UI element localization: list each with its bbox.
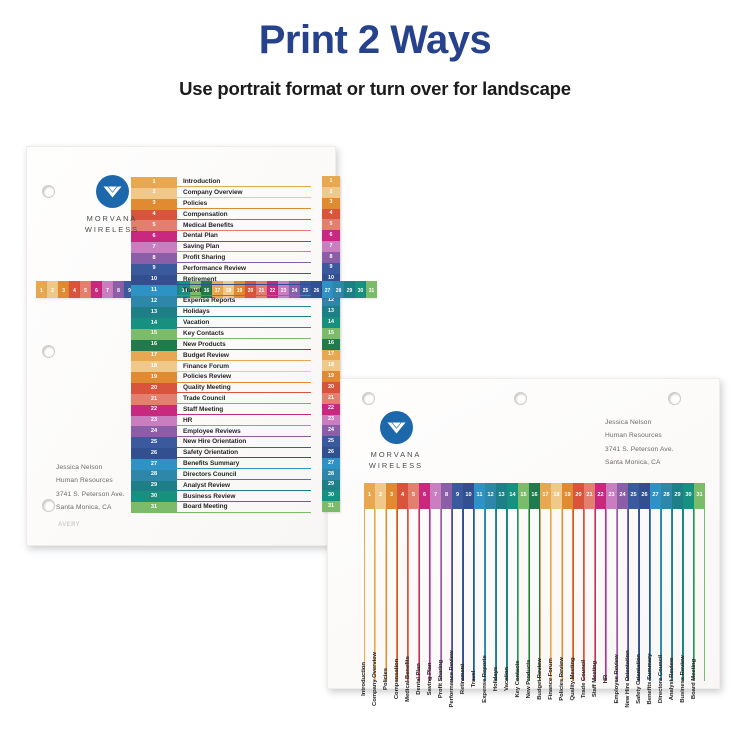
landscape-tab-label: Dental Plan [414, 663, 425, 695]
landscape-tab-rule [551, 509, 552, 681]
landscape-tab-stem: Holidays [496, 509, 507, 681]
portrait-tab-label-cell: Employee Reviews [177, 426, 311, 437]
landscape-tab-number: 3 [386, 483, 397, 509]
landscape-tab-label: Company Overview [370, 652, 381, 706]
portrait-tab-label-cell: Medical Benefits [177, 220, 311, 231]
address-line-street: 3741 S. Peterson Ave. [56, 488, 125, 501]
portrait-edge-tab[interactable]: 2 [322, 187, 340, 198]
portrait-tab-row[interactable]: 3Policies [131, 199, 311, 210]
portrait-tab-row[interactable]: 25New Hire Orientation [131, 437, 311, 448]
landscape-tab-stem: Finance Forum [551, 509, 562, 681]
portrait-edge-tab[interactable]: 22 [322, 404, 340, 415]
landscape-tab-stem: Policies Review [562, 509, 573, 681]
landscape-tab-number: 10 [463, 483, 474, 509]
portrait-tab-label-cell: Finance Forum [177, 361, 311, 372]
portrait-edge-tab[interactable]: 19 [322, 371, 340, 382]
portrait-tab-label-cell: Budget Review [177, 351, 311, 362]
landscape-tab-column[interactable]: 4Compensation [397, 483, 408, 681]
portrait-edge-tab[interactable]: 16 [322, 339, 340, 350]
portrait-tab-label-cell: Vacation [177, 318, 311, 329]
landscape-tab-column[interactable]: 25New Hire Orientation [628, 483, 639, 681]
landscape-tab-number: 7 [430, 483, 441, 509]
portrait-tab-row[interactable]: 31Board Meeting [131, 502, 311, 513]
portrait-tab-row[interactable]: 29Analyst Review [131, 481, 311, 492]
landscape-tab-stem: Dental Plan [419, 509, 430, 681]
brand-name: MORVANA WIRELESS [73, 214, 151, 235]
morvana-chevron-logo-icon [96, 175, 129, 208]
landscape-tab-label: Key Contacts [513, 660, 524, 697]
landscape-tab-column[interactable]: 20Quality Meeting [573, 483, 584, 681]
landscape-tab-label: Profit Sharing [436, 660, 447, 698]
portrait-tab-label-cell: Performance Review [177, 264, 311, 275]
landscape-tab-column[interactable]: 9Performance Review [452, 483, 463, 681]
landscape-tab-label: Introduction [359, 662, 370, 696]
landscape-tab-stem: Trade Council [584, 509, 595, 681]
portrait-tab-row[interactable]: 13Holidays [131, 307, 311, 318]
binder-hole [42, 499, 55, 512]
landscape-bottom-tab[interactable]: 31 [366, 281, 377, 298]
portrait-tab-number: 22 [131, 405, 177, 416]
portrait-edge-tab[interactable]: 21 [322, 393, 340, 404]
landscape-tab-rule [474, 509, 475, 681]
portrait-tab-row[interactable]: 26Safety Orientation [131, 448, 311, 459]
portrait-tab-row[interactable]: 16New Products [131, 340, 311, 351]
landscape-tab-column[interactable]: 23HR [606, 483, 617, 681]
landscape-bottom-tab[interactable]: 5 [80, 281, 91, 298]
brand-name: MORVANA WIRELESS [357, 450, 435, 471]
portrait-tab-label: Company Overview [183, 190, 243, 197]
portrait-tab-row[interactable]: 20Quality Meeting [131, 383, 311, 394]
brand-name-line2: WIRELESS [357, 461, 435, 472]
portrait-tab-row[interactable]: 15Key Contacts [131, 329, 311, 340]
landscape-bottom-tab[interactable]: 6 [91, 281, 102, 298]
landscape-tab-column[interactable]: 2Company Overview [375, 483, 386, 681]
landscape-tab-number: 24 [617, 483, 628, 509]
landscape-tab-label: Vacation [502, 667, 513, 691]
portrait-tab-label-cell: Dental Plan [177, 231, 311, 242]
portrait-tab-label: Analyst Review [183, 483, 230, 490]
landscape-tab-rule [694, 509, 695, 681]
landscape-tab-label: Analyst Review [667, 658, 678, 701]
binder-hole [514, 392, 527, 405]
portrait-tab-label-cell: Saving Plan [177, 242, 311, 253]
product-illustration-stage: Print 2 Ways Use portrait format or turn… [0, 0, 750, 750]
landscape-tab-stem: Company Overview [375, 509, 386, 681]
portrait-tab-label: New Products [183, 342, 226, 349]
portrait-tab-number: 12 [131, 296, 177, 307]
portrait-tab-label: Holidays [183, 309, 210, 316]
portrait-tab-label-cell: Key Contacts [177, 329, 311, 340]
portrait-tab-number: 16 [131, 340, 177, 351]
landscape-bottom-tab[interactable]: 27 [322, 281, 333, 298]
landscape-tab-column[interactable]: 26Safety Orientation [639, 483, 650, 681]
landscape-tab-number: 21 [584, 483, 595, 509]
binder-hole [42, 185, 55, 198]
landscape-bottom-tab[interactable]: 30 [355, 281, 366, 298]
landscape-tab-column[interactable]: 28Directors Council [661, 483, 672, 681]
landscape-bottom-tab[interactable]: 7 [102, 281, 113, 298]
portrait-tab-label-cell: New Hire Orientation [177, 437, 311, 448]
portrait-tab-list: 1Introduction2Company Overview3Policies4… [131, 177, 311, 513]
landscape-tab-rule [573, 509, 574, 681]
landscape-tab-label: Benefits Summary [645, 654, 656, 705]
promo-header: Print 2 Ways Use portrait format or turn… [0, 0, 750, 100]
landscape-tab-number: 5 [408, 483, 419, 509]
portrait-tab-row[interactable]: 22Staff Meeting [131, 405, 311, 416]
landscape-tab-rule [496, 509, 497, 681]
landscape-tab-stem: Business Review [683, 509, 694, 681]
portrait-edge-tab[interactable]: 14 [322, 317, 340, 328]
portrait-tab-row[interactable]: 19Policies Review [131, 372, 311, 383]
portrait-tab-label-cell: Retirement [177, 275, 311, 286]
portrait-edge-tab[interactable]: 3 [322, 198, 340, 209]
portrait-tab-row[interactable]: 7Saving Plan [131, 242, 311, 253]
address-line-name: Jessica Nelson [56, 461, 125, 474]
landscape-tab-number: 27 [650, 483, 661, 509]
portrait-tab-row[interactable]: 9Performance Review [131, 264, 311, 275]
landscape-tab-rule [540, 509, 541, 681]
portrait-tab-rule [177, 512, 311, 513]
landscape-tab-rule [397, 509, 398, 681]
portrait-tab-row[interactable]: 4Compensation [131, 210, 311, 221]
portrait-tab-label-cell: Holidays [177, 307, 311, 318]
landscape-tab-column[interactable]: 12Expense Reports [485, 483, 496, 681]
landscape-tab-rule [529, 509, 530, 681]
portrait-tab-label: Business Review [183, 494, 235, 501]
portrait-tab-label-cell: HR [177, 416, 311, 427]
landscape-tab-rule [704, 509, 705, 681]
portrait-edge-tab[interactable]: 4 [322, 209, 340, 220]
portrait-tab-label-cell: Quality Meeting [177, 383, 311, 394]
landscape-tab-column[interactable]: 14Vacation [507, 483, 518, 681]
portrait-tab-number: 29 [131, 481, 177, 492]
portrait-tab-label: Profit Sharing [183, 255, 225, 262]
portrait-tab-row[interactable]: 2Company Overview [131, 188, 311, 199]
landscape-bottom-tab[interactable]: 2 [47, 281, 58, 298]
portrait-tab-label: Trade Council [183, 396, 225, 403]
page-title: Print 2 Ways [0, 18, 750, 62]
portrait-tab-label: HR [183, 418, 192, 425]
portrait-tab-label: Medical Benefits [183, 223, 234, 230]
portrait-edge-tab[interactable]: 30 [322, 490, 340, 501]
landscape-tab-number: 19 [562, 483, 573, 509]
landscape-tab-stem: Retirement [463, 509, 474, 681]
landscape-tab-stem: Policies [386, 509, 397, 681]
portrait-tab-label-cell: Directors Council [177, 470, 311, 481]
portrait-edge-tab[interactable]: 7 [322, 241, 340, 252]
landscape-tab-column[interactable]: 16New Products [529, 483, 540, 681]
portrait-edge-tab[interactable]: 17 [322, 350, 340, 361]
address-line-dept: Human Resources [605, 429, 674, 442]
landscape-tab-column[interactable]: 11Travel [474, 483, 485, 681]
portrait-tab-row[interactable]: 8Profit Sharing [131, 253, 311, 264]
portrait-edge-tab[interactable]: 29 [322, 480, 340, 491]
landscape-tab-column[interactable]: 21Trade Council [584, 483, 595, 681]
portrait-edge-tab[interactable]: 26 [322, 447, 340, 458]
portrait-tab-number: 25 [131, 437, 177, 448]
landscape-tab-number: 18 [551, 483, 562, 509]
binder-hole [362, 392, 375, 405]
portrait-tab-row[interactable]: 24Employee Reviews [131, 426, 311, 437]
portrait-tab-row[interactable]: 11Travel [131, 285, 311, 296]
landscape-tab-number: 30 [683, 483, 694, 509]
portrait-tab-row[interactable]: 27Benefits Summary [131, 459, 311, 470]
landscape-tab-rule [518, 509, 519, 681]
portrait-tab-row[interactable]: 14Vacation [131, 318, 311, 329]
landscape-tab-rule [463, 509, 464, 681]
landscape-tab-column[interactable]: 18Finance Forum [551, 483, 562, 681]
landscape-tab-column[interactable]: 13Holidays [496, 483, 507, 681]
landscape-tab-number: 14 [507, 483, 518, 509]
landscape-tab-number: 20 [573, 483, 584, 509]
portrait-tab-label: Directors Council [183, 472, 236, 479]
portrait-edge-tab[interactable]: 18 [322, 360, 340, 371]
landscape-tab-rule [672, 509, 673, 681]
landscape-tab-stem: Medical Benefits [408, 509, 419, 681]
landscape-tab-label: Retirement [458, 664, 469, 694]
portrait-edge-tab[interactable]: 8 [322, 252, 340, 263]
landscape-tab-stem: Budget Review [540, 509, 551, 681]
landscape-tab-label: New Hire Orientation [623, 650, 634, 707]
portrait-tab-row[interactable]: 1Introduction [131, 177, 311, 188]
portrait-tab-number: 10 [131, 275, 177, 286]
landscape-bottom-tab[interactable]: 8 [113, 281, 124, 298]
portrait-tab-label-cell: Analyst Review [177, 481, 311, 492]
portrait-tab-label-cell: Introduction [177, 177, 311, 188]
landscape-tab-number: 12 [485, 483, 496, 509]
landscape-tab-number: 29 [672, 483, 683, 509]
landscape-tab-label: Medical Benefits [403, 656, 414, 702]
landscape-tab-label: Finance Forum [546, 658, 557, 700]
landscape-tab-stem: Expense Reports [485, 509, 496, 681]
portrait-tab-label-cell: Staff Meeting [177, 405, 311, 416]
landscape-bottom-tab[interactable]: 1 [36, 281, 47, 298]
portrait-tab-row[interactable]: 17Budget Review [131, 351, 311, 362]
portrait-tab-label: Board Meeting [183, 504, 228, 511]
portrait-tab-number: 27 [131, 459, 177, 470]
landscape-tab-label: Saving Plan [425, 663, 436, 696]
portrait-tab-label-cell: Business Review [177, 491, 311, 502]
portrait-edge-tab[interactable]: 24 [322, 425, 340, 436]
portrait-tab-label: Safety Orientation [183, 450, 238, 457]
portrait-edge-tab[interactable]: 9 [322, 263, 340, 274]
landscape-tab-rule [386, 509, 387, 681]
portrait-tab-row[interactable]: 21Trade Council [131, 394, 311, 405]
portrait-edge-tab[interactable]: 5 [322, 219, 340, 230]
landscape-tab-number: 25 [628, 483, 639, 509]
landscape-tab-rule [606, 509, 607, 681]
address-line-city: Santa Monica, CA [605, 456, 674, 469]
portrait-edge-tab[interactable]: 6 [322, 230, 340, 241]
landscape-tab-label: Safety Orientation [634, 654, 645, 704]
landscape-tab-rule [507, 509, 508, 681]
landscape-tab-column[interactable]: 30Business Review [683, 483, 694, 681]
landscape-tab-label: Employee Review [612, 654, 623, 703]
landscape-bottom-tab[interactable]: 28 [333, 281, 344, 298]
portrait-tab-label: Retirement [183, 277, 216, 284]
landscape-tab-label: Compensation [392, 659, 403, 699]
portrait-tab-number: 23 [131, 416, 177, 427]
portrait-tab-label: Finance Forum [183, 364, 229, 371]
landscape-tab-rule [419, 509, 420, 681]
landscape-tab-label: Budget Review [535, 658, 546, 700]
portrait-tab-row[interactable]: 23HR [131, 416, 311, 427]
portrait-edge-tab[interactable]: 31 [322, 501, 340, 512]
landscape-tab-column[interactable]: 31Board Meeting [694, 483, 705, 681]
landscape-tab-rule [430, 509, 431, 681]
landscape-tab-number: 13 [496, 483, 507, 509]
brand-name-line1: MORVANA [371, 450, 422, 459]
landscape-tab-label: Holidays [491, 667, 502, 691]
landscape-bottom-tab[interactable]: 3 [58, 281, 69, 298]
portrait-tab-row[interactable]: 30Business Review [131, 491, 311, 502]
portrait-tab-label: Key Contacts [183, 331, 224, 338]
portrait-tab-label-cell: Benefits Summary [177, 459, 311, 470]
landscape-bottom-tab[interactable]: 29 [344, 281, 355, 298]
address-line-street: 3741 S. Peterson Ave. [605, 443, 674, 456]
landscape-tab-label: Directors Council [656, 655, 667, 703]
landscape-tab-label: Expense Reports [480, 655, 491, 702]
landscape-tab-column[interactable]: 22Staff Meeting [595, 483, 606, 681]
brand-name-line2: WIRELESS [73, 225, 151, 236]
landscape-tab-label: Business Review [678, 655, 689, 702]
binder-hole [668, 392, 681, 405]
address-block: Jessica Nelson Human Resources 3741 S. P… [605, 416, 674, 469]
landscape-tab-column[interactable]: 15Key Contacts [518, 483, 529, 681]
avery-watermark: AVERY [58, 522, 80, 528]
landscape-tab-column[interactable]: 5Medical Benefits [408, 483, 419, 681]
landscape-tab-list: 1Introduction2Company Overview3Policies4… [364, 483, 705, 681]
landscape-tab-column[interactable]: 7Saving Plan [430, 483, 441, 681]
landscape-tab-stem: Quality Meeting [573, 509, 584, 681]
landscape-tab-column[interactable]: 17Budget Review [540, 483, 551, 681]
portrait-tab-label: New Hire Orientation [183, 439, 246, 446]
portrait-edge-tab[interactable]: 27 [322, 458, 340, 469]
portrait-tab-label-cell: Travel [177, 285, 311, 296]
landscape-bottom-tab[interactable]: 4 [69, 281, 80, 298]
portrait-tab-number: 8 [131, 253, 177, 264]
portrait-tab-label: Travel [183, 288, 202, 295]
portrait-tab-row[interactable]: 10Retirement [131, 275, 311, 286]
portrait-tab-label-cell: Profit Sharing [177, 253, 311, 264]
portrait-edge-tab[interactable]: 1 [322, 176, 340, 187]
landscape-tab-column[interactable]: 27Benefits Summary [650, 483, 661, 681]
landscape-tab-stem: Performance Review [452, 509, 463, 681]
portrait-tab-label-cell: Safety Orientation [177, 448, 311, 459]
portrait-edge-tab[interactable]: 20 [322, 382, 340, 393]
landscape-tab-label: Policies [381, 668, 392, 690]
landscape-tab-number: 11 [474, 483, 485, 509]
landscape-tab-rule [364, 509, 365, 681]
binder-hole [42, 345, 55, 358]
portrait-edge-tab[interactable]: 13 [322, 306, 340, 317]
landscape-tab-number: 31 [694, 483, 705, 509]
landscape-tab-stem: Staff Meeting [595, 509, 606, 681]
landscape-tab-rule [584, 509, 585, 681]
landscape-tab-stem: Directors Council [661, 509, 672, 681]
portrait-tab-label-cell: Compensation [177, 210, 311, 221]
landscape-tab-stem: Key Contacts [518, 509, 529, 681]
portrait-tab-label-cell: Company Overview [177, 188, 311, 199]
portrait-tab-row[interactable]: 18Finance Forum [131, 361, 311, 372]
portrait-tab-label: Staff Meeting [183, 407, 223, 414]
portrait-tab-number: 15 [131, 329, 177, 340]
portrait-tab-label: Policies Review [183, 374, 231, 381]
landscape-bottom-tab[interactable]: 26 [311, 281, 322, 298]
portrait-tab-row[interactable]: 6Dental Plan [131, 231, 311, 242]
landscape-tab-label: Board Meeting [689, 659, 700, 699]
landscape-tab-column[interactable]: 19Policies Review [562, 483, 573, 681]
portrait-tab-label: Saving Plan [183, 244, 219, 251]
portrait-edge-tab[interactable]: 28 [322, 469, 340, 480]
portrait-edge-tab[interactable]: 15 [322, 328, 340, 339]
portrait-tab-label: Vacation [183, 320, 209, 327]
portrait-tab-label: Policies [183, 201, 207, 208]
morvana-chevron-logo-icon [380, 411, 413, 444]
landscape-tab-label: New Products [524, 660, 535, 699]
address-line-name: Jessica Nelson [605, 416, 674, 429]
landscape-tab-label: Travel [469, 671, 480, 688]
page-subtitle: Use portrait format or turn over for lan… [0, 78, 750, 100]
portrait-tab-label: Budget Review [183, 353, 229, 360]
landscape-tab-label: HR [601, 675, 612, 683]
landscape-tab-column[interactable]: 29Analyst Review [672, 483, 683, 681]
landscape-tab-number: 26 [639, 483, 650, 509]
portrait-tab-number: 28 [131, 470, 177, 481]
brand-logo-block: MORVANA WIRELESS [73, 175, 151, 235]
landscape-tab-stem: Board Meeting [694, 509, 705, 681]
portrait-tab-label: Employee Reviews [183, 429, 241, 436]
landscape-tab-rule [441, 509, 442, 681]
portrait-tab-label: Introduction [183, 179, 220, 186]
landscape-tab-column[interactable]: 6Dental Plan [419, 483, 430, 681]
portrait-tab-row[interactable]: 28Directors Council [131, 470, 311, 481]
portrait-tab-number: 7 [131, 242, 177, 253]
portrait-tab-label-cell: Trade Council [177, 394, 311, 405]
portrait-tab-label: Quality Meeting [183, 385, 231, 392]
landscape-tab-stem: New Products [529, 509, 540, 681]
brand-name-line1: MORVANA [87, 214, 138, 223]
portrait-divider-sheet: MORVANA WIRELESS Jessica Nelson Human Re… [26, 146, 336, 546]
portrait-tab-number: 26 [131, 448, 177, 459]
landscape-tab-column[interactable]: 10Retirement [463, 483, 474, 681]
landscape-tab-label: Policies Review [557, 657, 568, 700]
landscape-tab-label: Staff Meeting [590, 661, 601, 697]
portrait-tab-number: 13 [131, 307, 177, 318]
landscape-tab-column[interactable]: 3Policies [386, 483, 397, 681]
portrait-tab-row[interactable]: 12Expense Reports [131, 296, 311, 307]
portrait-tab-number: 24 [131, 426, 177, 437]
landscape-tab-label: Quality Meeting [568, 657, 579, 700]
portrait-tab-label: Performance Review [183, 266, 246, 273]
landscape-tab-number: 2 [375, 483, 386, 509]
address-line-dept: Human Resources [56, 474, 125, 487]
portrait-tab-number: 30 [131, 491, 177, 502]
portrait-tab-row[interactable]: 5Medical Benefits [131, 220, 311, 231]
brand-logo-block: MORVANA WIRELESS [357, 411, 435, 471]
address-line-city: Santa Monica, CA [56, 501, 125, 514]
landscape-tab-number: 28 [661, 483, 672, 509]
landscape-tab-number: 8 [441, 483, 452, 509]
portrait-edge-tab[interactable]: 25 [322, 436, 340, 447]
portrait-tab-label-cell: Policies Review [177, 372, 311, 383]
portrait-tab-number: 9 [131, 264, 177, 275]
address-block: Jessica Nelson Human Resources 3741 S. P… [56, 461, 125, 514]
landscape-tab-stem: Vacation [507, 509, 518, 681]
portrait-edge-tab[interactable]: 23 [322, 415, 340, 426]
portrait-tab-label: Benefits Summary [183, 461, 239, 468]
landscape-tab-label: Performance Review [447, 650, 458, 707]
